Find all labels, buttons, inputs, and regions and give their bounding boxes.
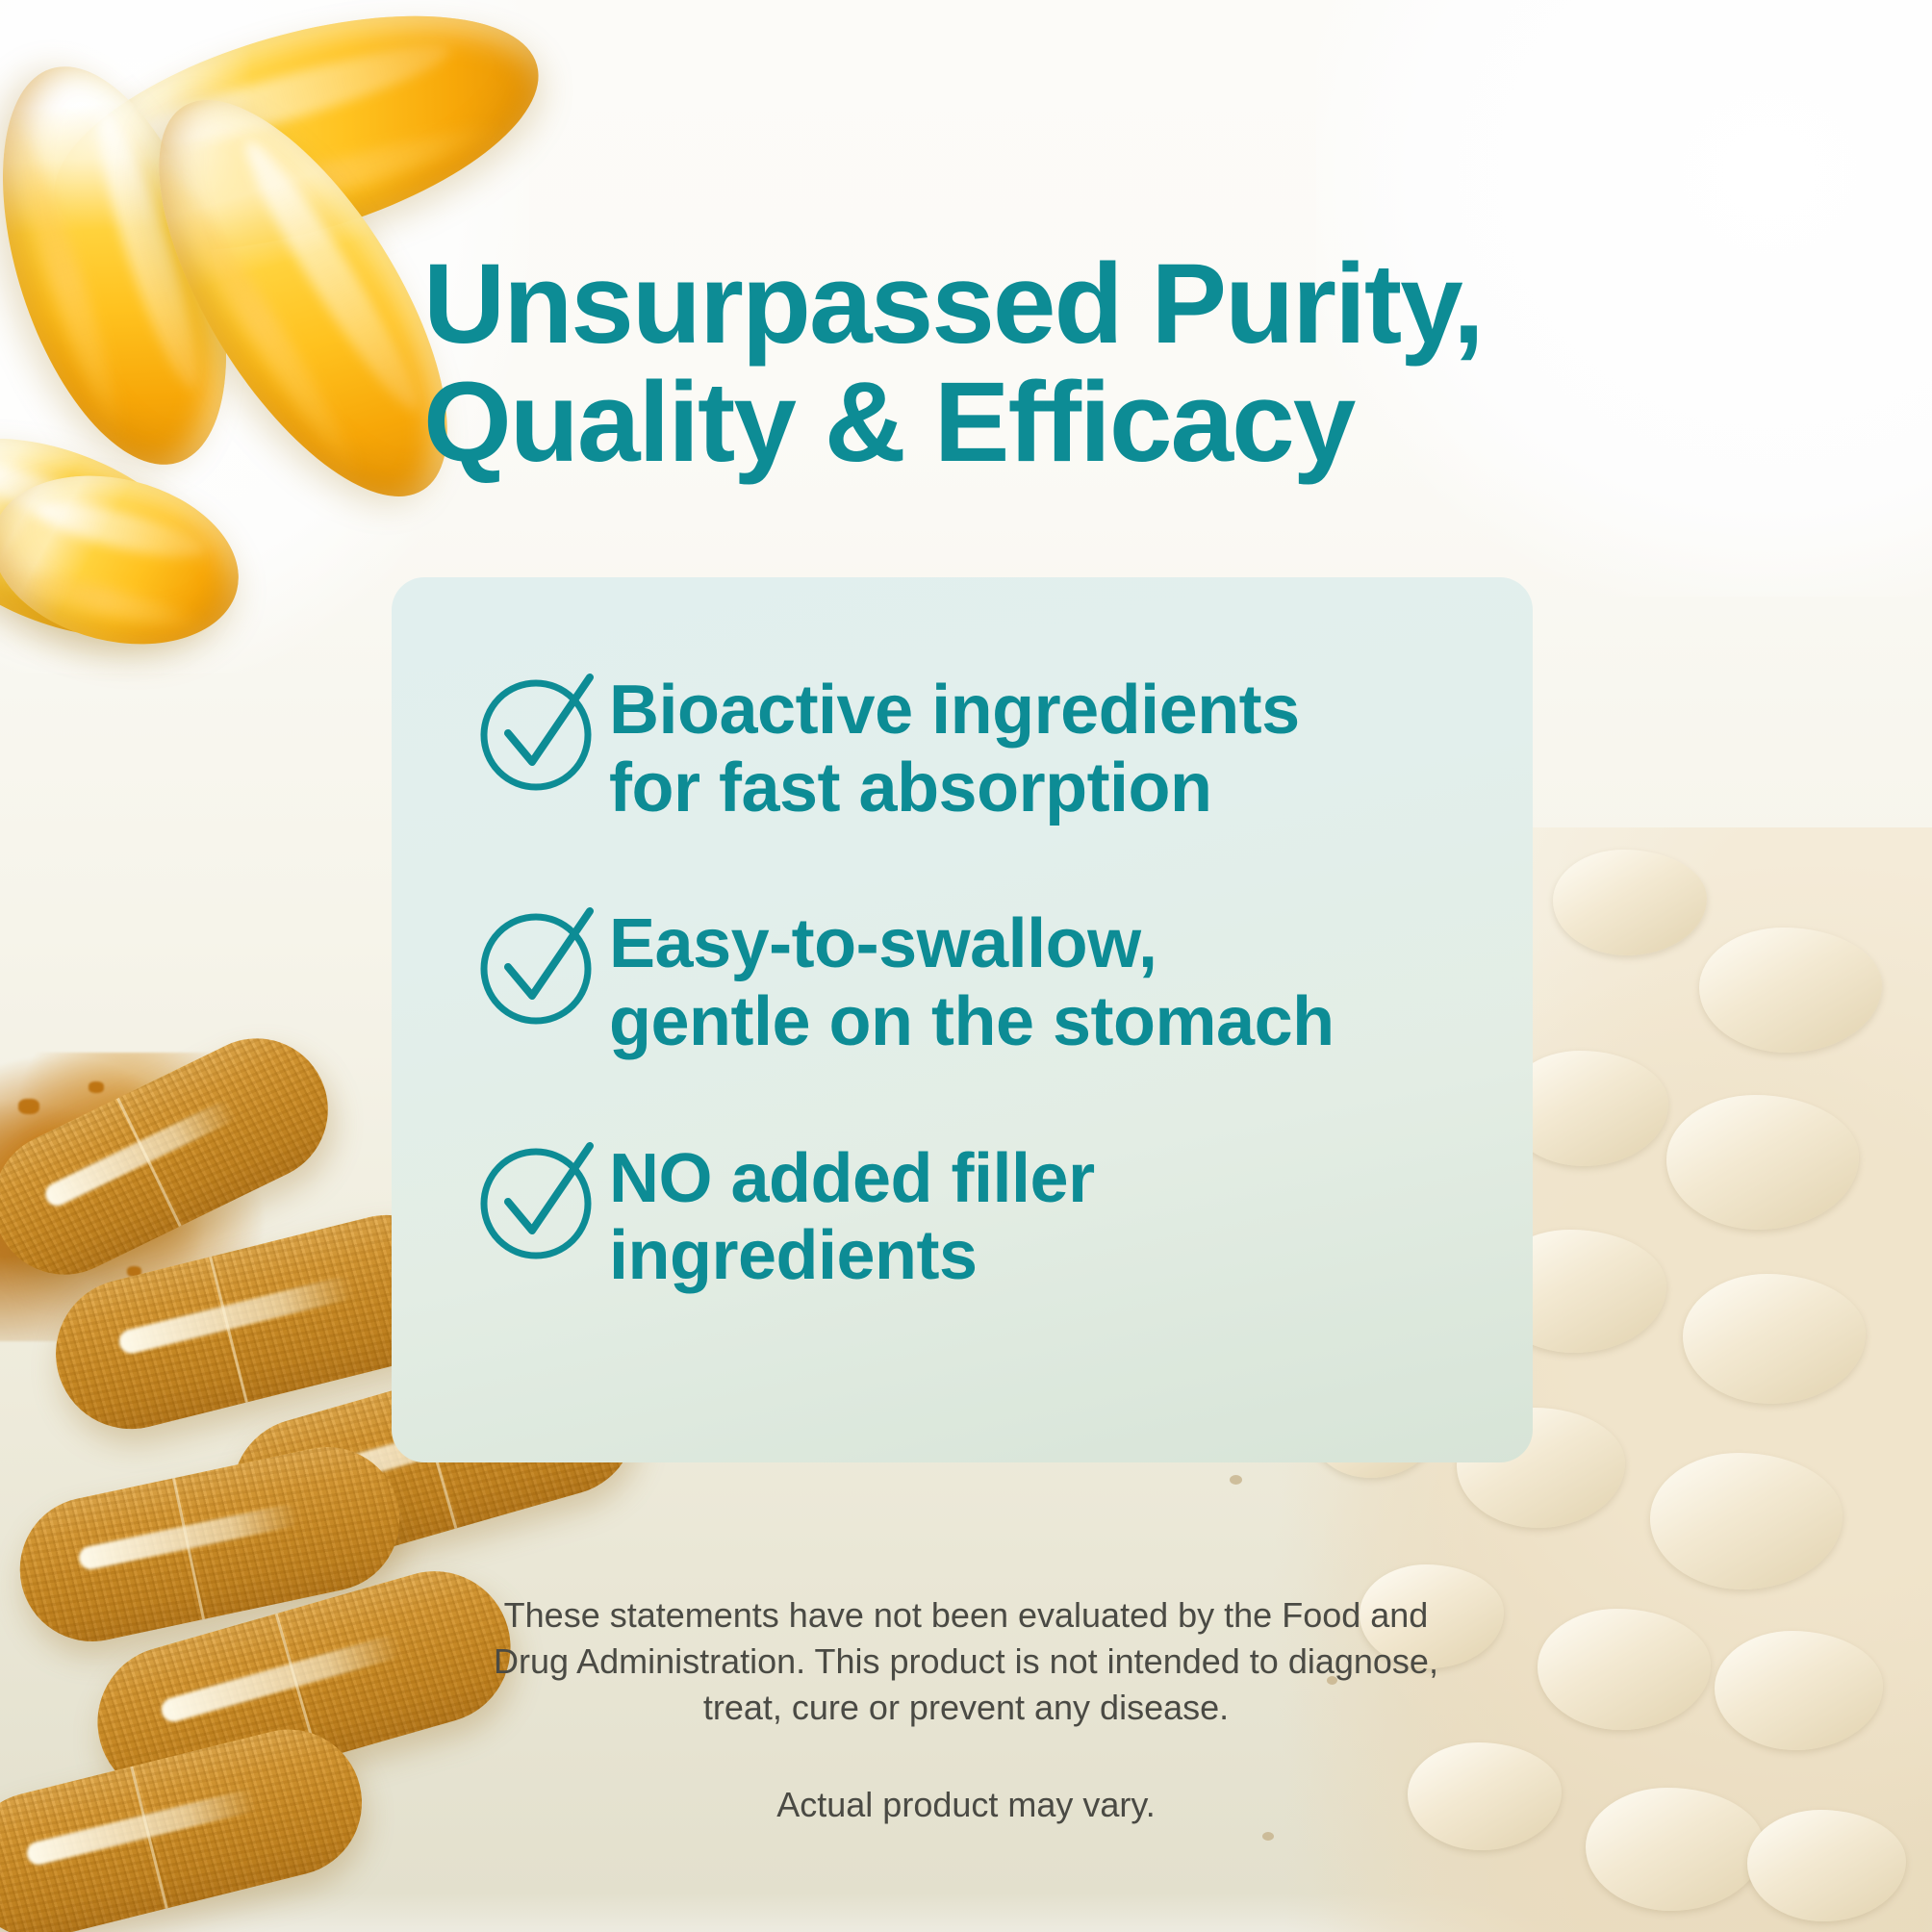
softgel-capsule bbox=[0, 39, 270, 493]
benefits-list: Bioactive ingredients for fast absorptio… bbox=[392, 577, 1533, 1462]
benefits-card: Bioactive ingredients for fast absorptio… bbox=[392, 577, 1533, 1462]
benefit-label-line-2: gentle on the stomach bbox=[609, 983, 1335, 1061]
fda-disclaimer-line-3: treat, cure or prevent any disease. bbox=[0, 1685, 1932, 1731]
page-title: Unsurpassed Purity, Quality & Efficacy bbox=[423, 245, 1424, 481]
benefit-label: Bioactive ingredients for fast absorptio… bbox=[609, 666, 1300, 826]
benefit-label-line-1: NO added filler bbox=[609, 1140, 1095, 1218]
benefit-item: Bioactive ingredients for fast absorptio… bbox=[476, 666, 1533, 826]
benefit-label-line-1: Easy-to-swallow, bbox=[609, 905, 1335, 983]
actual-product-note: Actual product may vary. bbox=[0, 1785, 1932, 1825]
page-title-line-2: Quality & Efficacy bbox=[423, 364, 1424, 482]
benefit-label: Easy-to-swallow, gentle on the stomach bbox=[609, 900, 1335, 1060]
fda-disclaimer-line-2: Drug Administration. This product is not… bbox=[0, 1639, 1932, 1685]
benefit-label-line-2: ingredients bbox=[609, 1217, 1095, 1295]
fda-disclaimer: These statements have not been evaluated… bbox=[0, 1592, 1932, 1732]
benefit-label-line-2: for fast absorption bbox=[609, 750, 1300, 827]
benefit-label-line-1: Bioactive ingredients bbox=[609, 672, 1300, 750]
page-title-line-1: Unsurpassed Purity, bbox=[423, 245, 1424, 364]
turmeric-capsule bbox=[0, 1014, 352, 1298]
promo-banner: Unsurpassed Purity, Quality & Efficacy B… bbox=[0, 0, 1932, 1932]
fda-disclaimer-line-1: These statements have not been evaluated… bbox=[0, 1592, 1932, 1639]
softgel-capsule bbox=[0, 399, 238, 677]
check-circle-icon bbox=[476, 675, 609, 801]
benefit-item: NO added filler ingredients bbox=[476, 1134, 1533, 1295]
turmeric-powder-spill bbox=[0, 1053, 279, 1341]
benefit-label: NO added filler ingredients bbox=[609, 1134, 1095, 1295]
check-circle-icon bbox=[476, 909, 609, 1034]
softgel-capsule bbox=[0, 451, 256, 669]
check-circle-icon bbox=[476, 1144, 609, 1269]
benefit-item: Easy-to-swallow, gentle on the stomach bbox=[476, 900, 1533, 1060]
